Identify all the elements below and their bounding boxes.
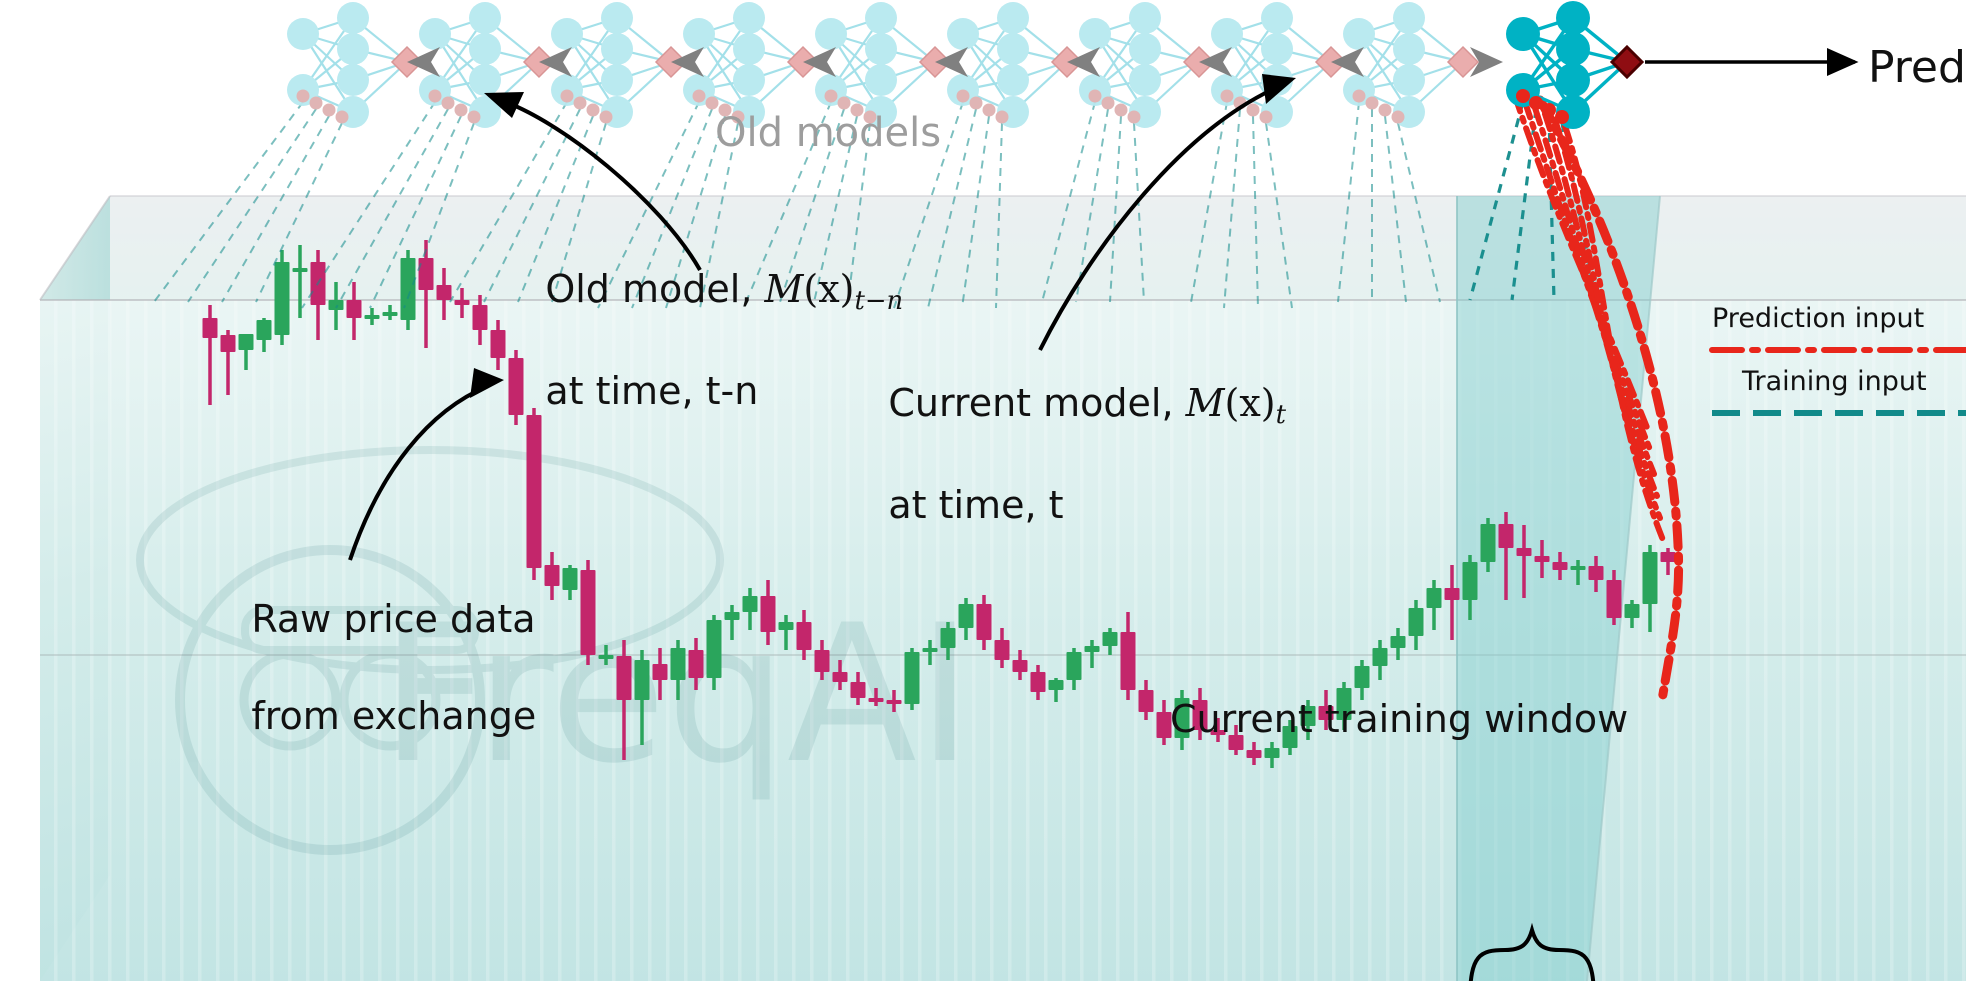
current-model-callout: Current model, M(x)t at time, t [840,330,1286,578]
current-model-callout-line1: Current model, M(x)t [888,381,1286,425]
current-model-callout-line2: at time, t [888,483,1063,527]
old-model-math-M: M [764,267,803,311]
prediction-label: Prediction [1868,42,1966,93]
legend-label-prediction-input: Prediction input [1712,303,1924,334]
old-models-label: Old models [715,110,941,156]
current-model-math-M: M [1186,381,1225,425]
old-model-math-subscript: t−n [855,286,904,316]
current-training-window-label: Current training window [1170,697,1628,741]
legend-label-training-input: Training input [1742,366,1927,397]
raw-price-callout-line1: Raw price data [251,597,535,641]
raw-price-callout-line2: from exchange [251,694,536,738]
old-model-callout-line1: Old model, M(x)t−n [545,267,903,311]
raw-price-callout: Raw price data from exchange [203,546,536,789]
figure-root: FreqAI [0,0,1966,981]
old-model-math-x: (x) [803,267,854,311]
old-model-callout-line2: at time, t-n [545,369,758,413]
current-model-math-x: (x) [1225,381,1276,425]
current-model-math-subscript: t [1276,400,1286,430]
